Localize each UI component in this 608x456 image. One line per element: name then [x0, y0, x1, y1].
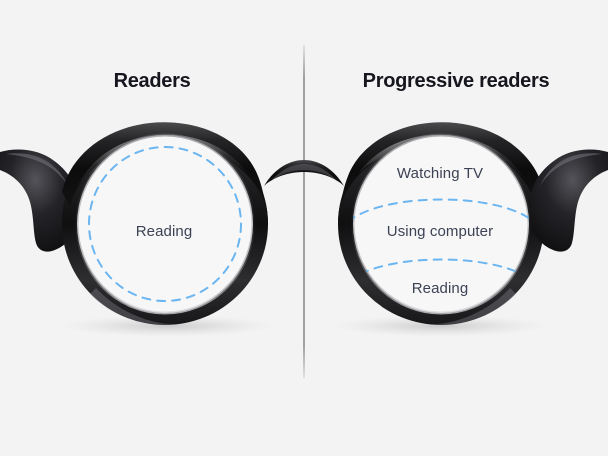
right-lens-zone-label-using-computer: Using computer [340, 223, 540, 240]
left-lens-zone-label-reading: Reading [64, 223, 264, 240]
left-panel-title: Readers [0, 70, 304, 93]
right-endpiece [529, 150, 608, 252]
right-lens-zone-label-reading: Reading [340, 280, 540, 297]
right-lens-zone-label-watching-tv: Watching TV [340, 165, 540, 182]
nose-bridge-highlight [270, 164, 338, 182]
right-panel-title: Progressive readers [304, 70, 608, 93]
illustration-canvas: Readers Progressive readers [0, 0, 608, 456]
nose-bridge [264, 160, 344, 186]
